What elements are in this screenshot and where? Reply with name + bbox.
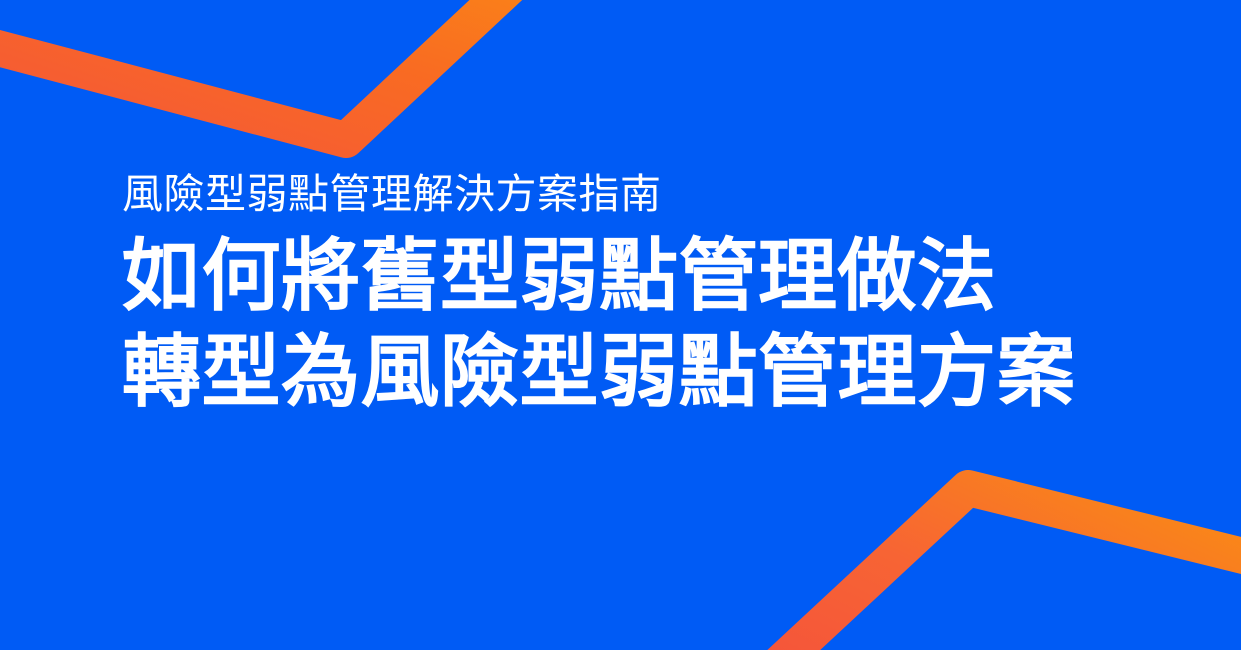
headline-line-2: 轉型為風險型弱點管理方案 [122, 324, 1182, 420]
page-title: 如何將舊型弱點管理做法 轉型為風險型弱點管理方案 [122, 228, 1182, 421]
banner-text-block: 風險型弱點管理解決方案指南 如何將舊型弱點管理做法 轉型為風險型弱點管理方案 [122, 172, 1182, 421]
bottom-right-chevron-stripe [740, 488, 1241, 650]
banner-eyebrow: 風險型弱點管理解決方案指南 [122, 172, 1182, 218]
headline-line-1: 如何將舊型弱點管理做法 [122, 228, 1182, 324]
top-left-chevron-stripe [0, 0, 560, 140]
promo-banner: 風險型弱點管理解決方案指南 如何將舊型弱點管理做法 轉型為風險型弱點管理方案 [0, 0, 1241, 650]
